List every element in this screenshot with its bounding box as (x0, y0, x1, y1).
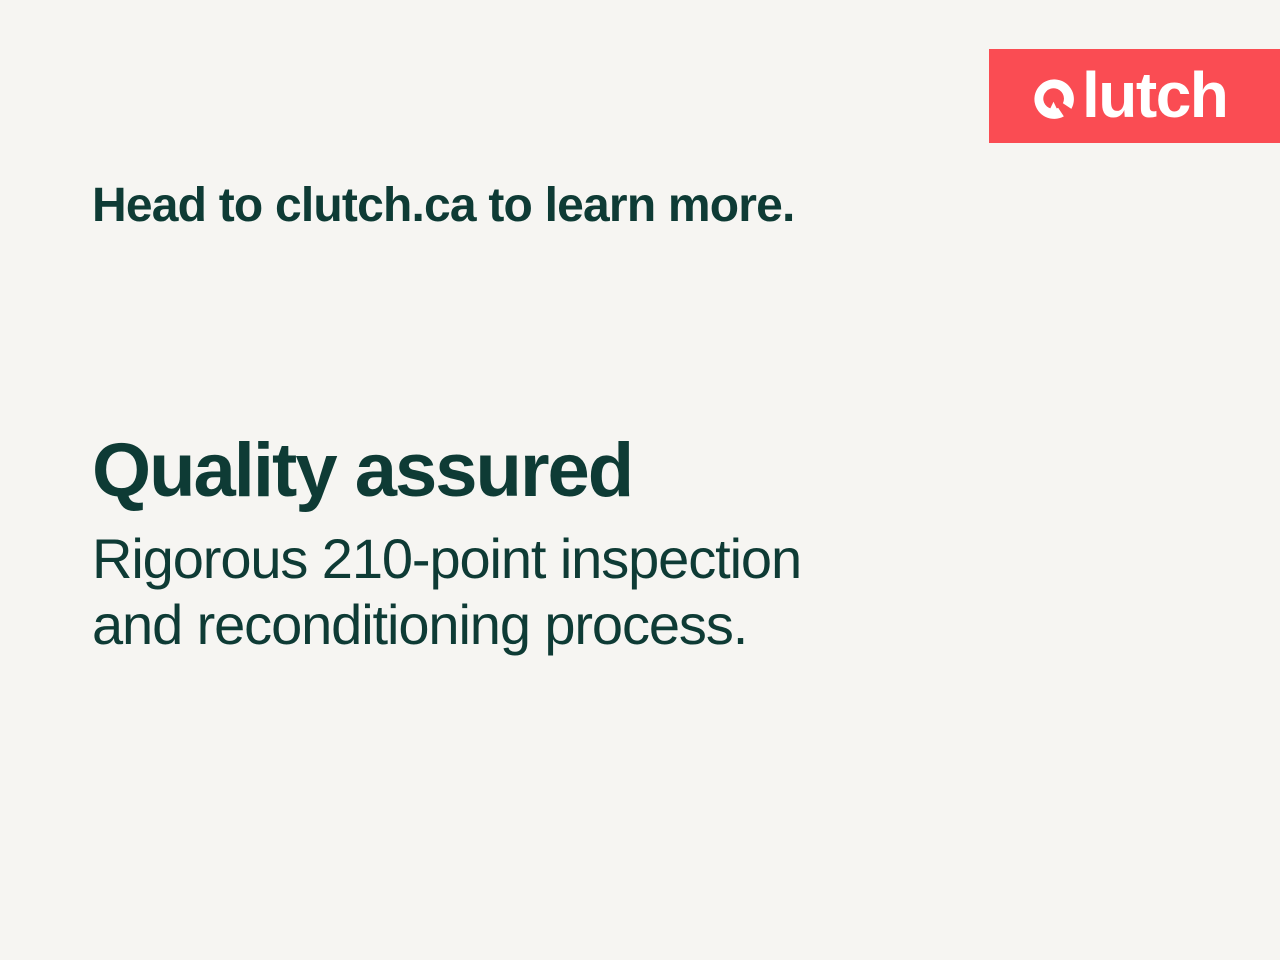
brand-wordmark: lutch (1082, 63, 1227, 127)
slide-canvas: lutch Head to clutch.ca to learn more. Q… (0, 0, 1280, 960)
lede-text: Head to clutch.ca to learn more. (92, 178, 795, 233)
subhead-line-2: and reconditioning process. (92, 593, 747, 656)
subhead-line-1: Rigorous 210-point inspection (92, 527, 801, 590)
page-title: Quality assured (92, 430, 1092, 512)
brand-badge: lutch (989, 49, 1280, 143)
subhead-text: Rigorous 210-point inspection and recond… (92, 526, 972, 657)
brand-lockup: lutch (1030, 65, 1227, 127)
headline-block: Quality assured Rigorous 210-point inspe… (92, 430, 1092, 657)
clutch-c-icon (1030, 75, 1077, 122)
